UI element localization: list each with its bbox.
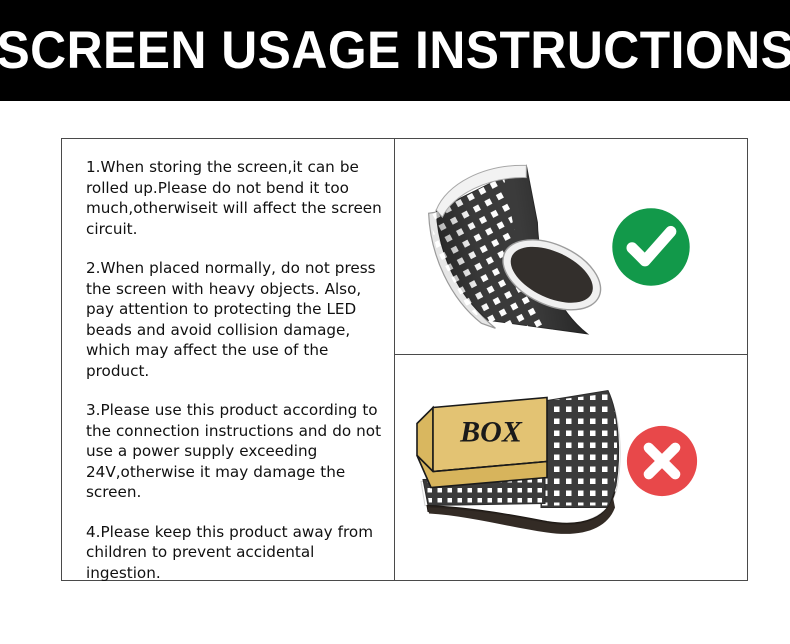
correct-badge	[608, 204, 694, 290]
content-frame: 1.When storing the screen,it can be roll…	[61, 138, 748, 581]
panel-correct-usage	[395, 139, 747, 355]
page-title: SCREEN USAGE INSTRUCTIONS	[0, 24, 790, 77]
instructions-panel: 1.When storing the screen,it can be roll…	[62, 139, 395, 580]
instruction-item-1: 1.When storing the screen,it can be roll…	[86, 157, 382, 239]
cross-mark-icon	[623, 422, 701, 500]
rolled-screen-illustration	[395, 139, 747, 354]
instruction-item-2: 2.When placed normally, do not press the…	[86, 258, 382, 381]
panel-incorrect-usage: BOX	[395, 355, 747, 580]
header-banner: SCREEN USAGE INSTRUCTIONS	[0, 0, 790, 101]
box-label: BOX	[459, 416, 523, 449]
instruction-item-3: 3.Please use this product according to t…	[86, 400, 382, 503]
instruction-item-4: 4.Please keep this product away from chi…	[86, 522, 382, 584]
check-mark-icon	[608, 204, 694, 290]
cardboard-box: BOX	[417, 398, 547, 488]
illustration-column: BOX	[395, 139, 747, 580]
incorrect-badge	[623, 422, 701, 500]
